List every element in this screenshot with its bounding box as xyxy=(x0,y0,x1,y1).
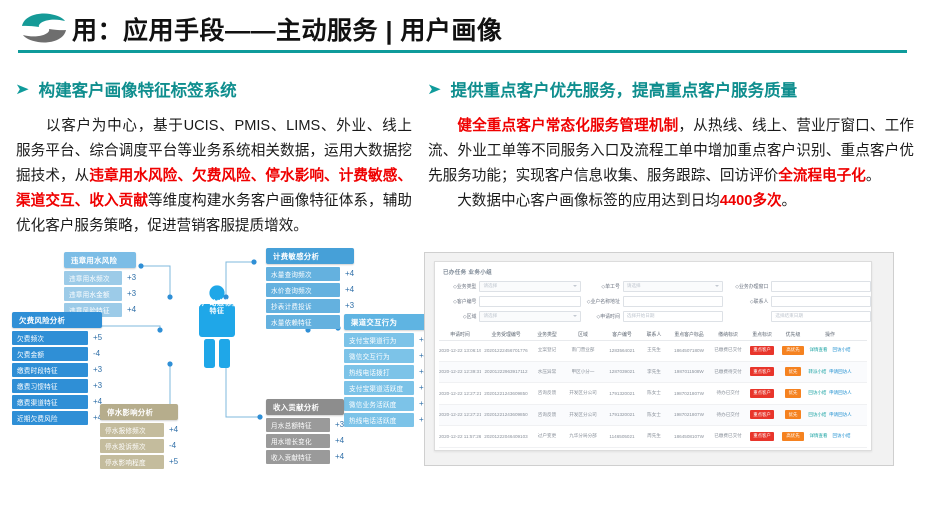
mindmap-node-rows: 水量查询频次+4水价查询频次+4抄表计费投诉+3水量依赖特征+5 xyxy=(266,267,354,329)
mindmap-row: 热线电话拨打+4 xyxy=(344,365,428,379)
mindmap-row: 水量依赖特征+5 xyxy=(266,315,354,329)
status-badge: 重点客户 xyxy=(750,367,774,376)
row-actions-cell[interactable]: 回访小结申请回访人 xyxy=(807,390,853,396)
form-field-placeholder: 请选择 xyxy=(627,283,641,289)
priority-badge: 优先 xyxy=(785,410,802,419)
form-field-placeholder: 选择开始日期 xyxy=(627,313,655,319)
mindmap-node-rows: 停水报修频次+4停水投诉频次-4停水影响程度+5 xyxy=(100,423,178,469)
form-field[interactable]: ◇申请时间选择开始日期 xyxy=(581,311,723,322)
table-cell: 已缴费已交付 xyxy=(711,347,745,353)
mindmap-row-label: 违章用水金额 xyxy=(64,287,122,301)
mindmap-row: 抄表计费投诉+3 xyxy=(266,299,354,313)
form-field-input[interactable]: 选择开始日期 xyxy=(623,311,723,322)
mindmap-row-label: 水价查询频次 xyxy=(266,283,340,297)
status-badge: 重点客户 xyxy=(750,432,774,441)
body-text: 。 xyxy=(866,168,881,184)
mindmap-row-value: +3 xyxy=(335,420,344,429)
form-field-input[interactable] xyxy=(771,281,871,292)
form-row: ◇业务类型请选择◇单工号请选择◇业务办理窗口 xyxy=(439,280,867,293)
table-cell: 咨询反馈 xyxy=(531,390,563,396)
priority-badge: 高优先 xyxy=(782,346,803,355)
row-action-link[interactable]: 回访小结 xyxy=(833,347,851,353)
table-cell: 20201221243609850 xyxy=(481,412,531,417)
slide-header: 用：应用手段——主动服务 | 用户画像 xyxy=(0,0,925,56)
table-column-header[interactable]: 缴纳标识 xyxy=(711,331,745,338)
right-section-heading: ➤ 提供重点客户优先服务，提高重点客户服务质量 xyxy=(428,77,797,101)
priority-badge: 优先 xyxy=(785,367,802,376)
right-paragraph: 健全重点客户常态化服务管理机制，从热线、线上、营业厅窗口、工作流、外业工单等不同… xyxy=(428,114,914,214)
table-cell: 1283564021 xyxy=(603,348,641,353)
mindmap-row-label: 欠费频次 xyxy=(12,331,88,345)
mindmap-row-label: 收入贡献特征 xyxy=(266,450,330,464)
form-field-input[interactable] xyxy=(771,296,871,307)
row-action-link[interactable]: 转派小结 xyxy=(808,369,826,375)
mindmap-node-title: 违章用水风险 xyxy=(64,252,136,268)
table-cell: 水压异常 xyxy=(531,369,563,375)
mindmap-row-label: 用水增长变化 xyxy=(266,434,330,448)
table-row[interactable]: 2020-12-22 11:57:2620201222046409103过户变更… xyxy=(439,426,867,448)
arrow-bullet-icon: ➤ xyxy=(427,82,441,97)
row-action-link[interactable]: 回访小结 xyxy=(808,390,826,396)
table-cell: 1791320021 xyxy=(603,391,641,396)
priority-badge-cell: 优先 xyxy=(779,367,807,376)
form-field-label: ◇业户名称地址 xyxy=(581,298,623,305)
header-divider xyxy=(18,50,907,53)
form-field-placeholder: 请选择 xyxy=(483,313,497,319)
mindmap-row-value: +4 xyxy=(169,425,178,434)
left-section-heading: ➤ 构建客户画像特征标签系统 xyxy=(16,77,237,101)
person-icon: 客户动态标签特征 xyxy=(194,284,240,370)
search-button[interactable]: 查询 xyxy=(871,311,872,321)
table-cell: 李先生 xyxy=(641,369,667,375)
table-cell: 过户变更 xyxy=(531,433,563,439)
mindmap-row-label: 停水影响程度 xyxy=(100,455,164,469)
table-cell: 立案登记 xyxy=(531,347,563,353)
table-cell: 2020-12-22 11:57:26 xyxy=(439,434,481,439)
form-field-label: ◇申请时间 xyxy=(581,313,623,320)
table-body[interactable]: 2020-12-22 13:06:1920201222456701776立案登记… xyxy=(439,340,867,448)
mindmap-row: 微信业务活跃度+3 xyxy=(344,397,428,411)
mindmap-row-label: 水量依赖特征 xyxy=(266,315,340,329)
arrow-bullet-icon: ➤ xyxy=(15,82,29,97)
right-heading-label: 提供重点客户优先服务，提高重点客户服务质量 xyxy=(451,77,798,101)
mindmap-row: 缴费习惯特征+3 xyxy=(12,379,102,393)
important-customer-badge-cell: 重点客户 xyxy=(745,346,779,355)
table-cell: 已缴费已交付 xyxy=(711,433,745,439)
mindmap-row: 微信交互行为+4 xyxy=(344,349,428,363)
mindmap-row-value: +5 xyxy=(169,457,178,466)
page-title: 用：应用手段——主动服务 | 用户画像 xyxy=(72,11,502,47)
mindmap-node-rows: 违章用水频次+3违章用水金额+3违章风险特征+4 xyxy=(64,271,136,317)
mindmap-row-label: 月水总额特征 xyxy=(266,418,330,432)
status-badge: 重点客户 xyxy=(750,346,774,355)
row-actions-cell[interactable]: 详情查看回访小结 xyxy=(807,347,853,353)
mindmap-row-value: +3 xyxy=(345,301,354,310)
table-column-header[interactable]: 区域 xyxy=(563,331,603,338)
form-row: ◇客户编号◇业户名称地址◇联系人 xyxy=(439,295,867,308)
row-action-link[interactable]: 详情查看 xyxy=(810,433,828,439)
table-cell: 2020-12-22 12:39:31 xyxy=(439,369,481,374)
form-field-label: ◇客户编号 xyxy=(439,298,479,305)
mindmap-node-title: 收入贡献分析 xyxy=(266,399,344,415)
mindmap-row-value: +4 xyxy=(127,305,136,314)
row-action-link[interactable]: 申请回访人 xyxy=(829,390,852,396)
mindmap-row-label: 停水投诉频次 xyxy=(100,439,164,453)
form-field[interactable]: 选择结束日期 xyxy=(723,311,871,322)
table-cell: 1287039021 xyxy=(603,369,641,374)
form-row: ◇区域请选择◇申请时间选择开始日期选择结束日期查询 xyxy=(439,310,867,323)
table-cell: 1791320021 xyxy=(603,412,641,417)
table-column-header[interactable]: 客户编号 xyxy=(603,331,641,338)
important-customer-badge-cell: 重点客户 xyxy=(745,432,779,441)
mindmap-node-tingshui: 停水影响分析停水报修频次+4停水投诉频次-4停水影响程度+5 xyxy=(100,404,178,471)
table-row[interactable]: 2020-12-22 12:27:2120201221243609850咨询反馈… xyxy=(439,405,867,427)
form-field[interactable]: ◇客户编号 xyxy=(439,296,581,307)
mindmap-node-jifei: 计费敏感分析水量查询频次+4水价查询频次+4抄表计费投诉+3水量依赖特征+5 xyxy=(266,248,354,331)
priority-badge-cell: 优先 xyxy=(779,389,807,398)
form-field[interactable]: ◇单工号请选择 xyxy=(581,281,723,292)
table-cell: 开发区分公司 xyxy=(563,412,603,418)
body-text: 。 xyxy=(782,193,797,209)
mindmap-row: 停水影响程度+5 xyxy=(100,455,178,469)
table-column-header[interactable]: 操作 xyxy=(807,331,853,338)
mindmap-node-title: 欠费风险分析 xyxy=(12,312,102,328)
mindmap-row: 违章用水金额+3 xyxy=(64,287,136,301)
mindmap-row-value: +3 xyxy=(127,289,136,298)
form-field[interactable]: ◇业户名称地址 xyxy=(581,296,723,307)
mindmap-row-value: +4 xyxy=(345,269,354,278)
table-cell: 1987021807W xyxy=(667,412,711,417)
status-badge: 重点客户 xyxy=(750,410,774,419)
table-cell: 陈女士 xyxy=(641,412,667,418)
table-column-header[interactable]: 优先级 xyxy=(779,331,807,338)
mindmap-row-label: 欠费金额 xyxy=(12,347,88,361)
form-field[interactable]: ◇区域请选择 xyxy=(439,311,581,322)
table-cell: 20201222456701776 xyxy=(481,348,531,353)
mindmap-center-label: 客户动态标签特征 xyxy=(194,300,240,317)
form-field-input[interactable]: 选择结束日期 xyxy=(771,311,871,322)
mindmap-row: 缴费渠道特征+4 xyxy=(12,395,102,409)
important-customer-badge-cell: 重点客户 xyxy=(745,367,779,376)
table-cell: 2020-12-22 12:27:21 xyxy=(439,391,481,396)
mindmap-row-label: 水量查询频次 xyxy=(266,267,340,281)
left-paragraph: 以客户为中心，基于UCIS、PMIS、LIMS、外业、线上服务平台、综合调度平台… xyxy=(16,114,412,239)
form-field-input[interactable]: 请选择 xyxy=(479,281,581,292)
mindmap-row-label: 微信交互行为 xyxy=(344,349,414,363)
mindmap-row-value: -4 xyxy=(169,441,176,450)
mindmap-row: 热线电话活跃度+3 xyxy=(344,413,428,427)
priority-badge-cell: 高优先 xyxy=(779,432,807,441)
table-cell: 周先生 xyxy=(641,433,667,439)
form-field-label: ◇业务类型 xyxy=(439,283,479,290)
row-actions-cell[interactable]: 转派小结申请回访人 xyxy=(807,369,853,375)
mindmap-row-label: 抄表计费投诉 xyxy=(266,299,340,313)
mindmap-row: 欠费金额-4 xyxy=(12,347,102,361)
mindmap-node-shouru: 收入贡献分析月水总额特征+3用水增长变化+4收入贡献特征+4 xyxy=(266,399,344,466)
mindmap-node-title: 渠道交互行为 xyxy=(344,314,428,330)
mindmap-node-title: 停水影响分析 xyxy=(100,404,178,420)
form-field-label: ◇单工号 xyxy=(581,283,623,290)
emphasis-text: 健全重点客户常态化服务管理机制 xyxy=(457,118,678,134)
mindmap-row: 违章用水频次+3 xyxy=(64,271,136,285)
table-cell: 2020-12-22 13:06:19 xyxy=(439,348,481,353)
row-action-link[interactable]: 详情查看 xyxy=(810,347,828,353)
mindmap-row-label: 停水报修频次 xyxy=(100,423,164,437)
body-text: 大数据中心客户画像标签的应用达到日均 xyxy=(457,193,720,209)
mindmap-row-label: 缴费时段特征 xyxy=(12,363,88,377)
emphasis-text: 全流程电子化 xyxy=(778,168,866,184)
row-action-link[interactable]: 回访小结 xyxy=(833,433,851,439)
table-cell: 2020-12-22 12:27:21 xyxy=(439,412,481,417)
table-cell: 开发区分公司 xyxy=(563,390,603,396)
row-action-link[interactable]: 申请回访人 xyxy=(829,412,852,418)
mindmap-row-value: +3 xyxy=(93,365,102,374)
mindmap-row-value: +5 xyxy=(93,333,102,342)
mindmap-row: 用水增长变化+4 xyxy=(266,434,344,448)
mindmap-row: 水价查询频次+4 xyxy=(266,283,354,297)
priority-badge-cell: 高优先 xyxy=(779,346,807,355)
s-swoosh-logo xyxy=(18,10,70,46)
emphasis-text: 4400多次 xyxy=(720,193,782,209)
mindmap-row-label: 微信业务活跃度 xyxy=(344,397,414,411)
mindmap-node-qianfei: 欠费风险分析欠费频次+5欠费金额-4缴费时段特征+3缴费习惯特征+3缴费渠道特征… xyxy=(12,312,102,427)
table-cell: 咨询反馈 xyxy=(531,412,563,418)
mindmap-row: 水量查询频次+4 xyxy=(266,267,354,281)
table-cell: 20201222046409103 xyxy=(481,434,531,439)
mindmap-node-rows: 支付宝渠道行为+4微信交互行为+4热线电话拨打+4支付宝渠道活跃度+3微信业务活… xyxy=(344,333,428,427)
form-field-placeholder: 选择结束日期 xyxy=(775,313,803,319)
table-cell: 20201221243609850 xyxy=(481,391,531,396)
mindmap-node-weizhang: 违章用水风险违章用水频次+3违章用水金额+3违章风险特征+4 xyxy=(64,252,136,319)
form-field[interactable]: ◇业务类型请选择 xyxy=(439,281,581,292)
table-cell: 1987021807W xyxy=(667,391,711,396)
mindmap-node-rows: 欠费频次+5欠费金额-4缴费时段特征+3缴费习惯特征+3缴费渠道特征+4近期欠费… xyxy=(12,331,102,425)
mindmap-row-label: 缴费渠道特征 xyxy=(12,395,88,409)
table-cell: 1146505021 xyxy=(603,434,641,439)
mindmap-row-label: 热线电话拨打 xyxy=(344,365,414,379)
mindmap-row-label: 热线电话活跃度 xyxy=(344,413,414,427)
table-column-header[interactable]: 重点客户标品 xyxy=(667,331,711,338)
mindmap-row-value: +4 xyxy=(335,436,344,445)
form-field-input[interactable] xyxy=(479,296,581,307)
mindmap-row: 近期欠费风险+4 xyxy=(12,411,102,425)
form-field-input[interactable]: 请选择 xyxy=(623,281,723,292)
mindmap-row-value: +4 xyxy=(345,285,354,294)
priority-badge-cell: 优先 xyxy=(779,410,807,419)
mindmap-row: 支付宝渠道行为+4 xyxy=(344,333,428,347)
table-cell: 已缴费待交付 xyxy=(711,369,745,375)
form-field-input[interactable] xyxy=(623,296,723,307)
table-cell: 1864508107W xyxy=(667,434,711,439)
table-cell: 王先生 xyxy=(641,347,667,353)
table-row[interactable]: 2020-12-22 12:39:3120201222963917112水压异常… xyxy=(439,362,867,384)
table-cell: 南门营业部 xyxy=(563,347,603,353)
table-column-header[interactable]: 业务类型 xyxy=(531,331,563,338)
mindmap-row-label: 违章用水频次 xyxy=(64,271,122,285)
mindmap-row: 支付宝渠道活跃度+3 xyxy=(344,381,428,395)
table-cell: 甲区小分一 xyxy=(563,369,603,375)
priority-badge: 优先 xyxy=(785,389,802,398)
row-actions-cell[interactable]: 详情查看回访小结 xyxy=(807,433,853,439)
table-row[interactable]: 2020-12-22 13:06:1920201222456701776立案登记… xyxy=(439,340,867,362)
table-column-header[interactable]: 重点标识 xyxy=(745,331,779,338)
table-cell: 待办已交付 xyxy=(711,390,745,396)
form-field[interactable]: ◇联系人 xyxy=(723,296,871,307)
table-column-header[interactable]: 申请时间 xyxy=(439,331,481,338)
table-cell: 1864507180W xyxy=(667,348,711,353)
mindmap-row: 收入贡献特征+4 xyxy=(266,450,344,464)
mindmap-row-label: 缴费习惯特征 xyxy=(12,379,88,393)
important-customer-badge-cell: 重点客户 xyxy=(745,410,779,419)
app-screenshot-frame: 已办任务 业务小组 ◇业务类型请选择◇单工号请选择◇业务办理窗口◇客户编号◇业户… xyxy=(424,252,894,466)
customer-profile-mindmap: 客户动态标签特征 违章用水风险违章用水频次+3违章用水金额+3违章风险特征+4欠… xyxy=(8,244,420,476)
mindmap-row: 缴费时段特征+3 xyxy=(12,363,102,377)
table-cell: 20201222963917112 xyxy=(481,369,531,374)
mindmap-row: 停水投诉频次-4 xyxy=(100,439,178,453)
form-field-label: ◇区域 xyxy=(439,313,479,320)
slide-root: 用：应用手段——主动服务 | 用户画像 ➤ 构建客户画像特征标签系统 以客户为中… xyxy=(0,0,925,519)
mindmap-node-rows: 月水总额特征+3用水增长变化+4收入贡献特征+4 xyxy=(266,418,344,464)
form-field-label: ◇联系人 xyxy=(723,298,771,305)
table-cell: 九华分局分部 xyxy=(563,433,603,439)
mindmap-row-label: 近期欠费风险 xyxy=(12,411,88,425)
status-badge: 重点客户 xyxy=(750,389,774,398)
table-cell: 陈女士 xyxy=(641,390,667,396)
mindmap-row-label: 支付宝渠道活跃度 xyxy=(344,381,414,395)
mindmap-row: 月水总额特征+3 xyxy=(266,418,344,432)
form-field[interactable]: ◇业务办理窗口 xyxy=(723,281,871,292)
form-field-input[interactable]: 请选择 xyxy=(479,311,581,322)
mindmap-row-value: +3 xyxy=(93,381,102,390)
crm-task-list-window: 已办任务 业务小组 ◇业务类型请选择◇单工号请选择◇业务办理窗口◇客户编号◇业户… xyxy=(434,261,872,451)
mindmap-node-qudao: 渠道交互行为支付宝渠道行为+4微信交互行为+4热线电话拨打+4支付宝渠道活跃度+… xyxy=(344,314,428,429)
mindmap-row: 停水报修频次+4 xyxy=(100,423,178,437)
panel-title: 已办任务 业务小组 xyxy=(443,268,492,276)
table-cell: 待办已交付 xyxy=(711,412,745,418)
mindmap-row-value: -4 xyxy=(93,349,100,358)
mindmap-row-value: +3 xyxy=(127,273,136,282)
table-column-header[interactable]: 业务受理编号 xyxy=(481,331,531,338)
mindmap-row: 欠费频次+5 xyxy=(12,331,102,345)
mindmap-row-value: +4 xyxy=(335,452,344,461)
mindmap-row-label: 支付宝渠道行为 xyxy=(344,333,414,347)
row-action-link[interactable]: 申请回访人 xyxy=(829,369,852,375)
row-actions-cell[interactable]: 回访小结申请回访人 xyxy=(807,412,853,418)
priority-badge: 高优先 xyxy=(782,432,803,441)
left-heading-label: 构建客户画像特征标签系统 xyxy=(39,77,237,101)
row-action-link[interactable]: 回访小结 xyxy=(808,412,826,418)
table-cell: 1987011508W xyxy=(667,369,711,374)
important-customer-badge-cell: 重点客户 xyxy=(745,389,779,398)
search-form[interactable]: ◇业务类型请选择◇单工号请选择◇业务办理窗口◇客户编号◇业户名称地址◇联系人◇区… xyxy=(439,280,867,325)
form-field-label: ◇业务办理窗口 xyxy=(723,283,771,290)
mindmap-node-title: 计费敏感分析 xyxy=(266,248,354,264)
table-row[interactable]: 2020-12-22 12:27:2120201221243609850咨询反馈… xyxy=(439,383,867,405)
form-field-placeholder: 请选择 xyxy=(483,283,497,289)
table-column-header[interactable]: 联系人 xyxy=(641,331,667,338)
